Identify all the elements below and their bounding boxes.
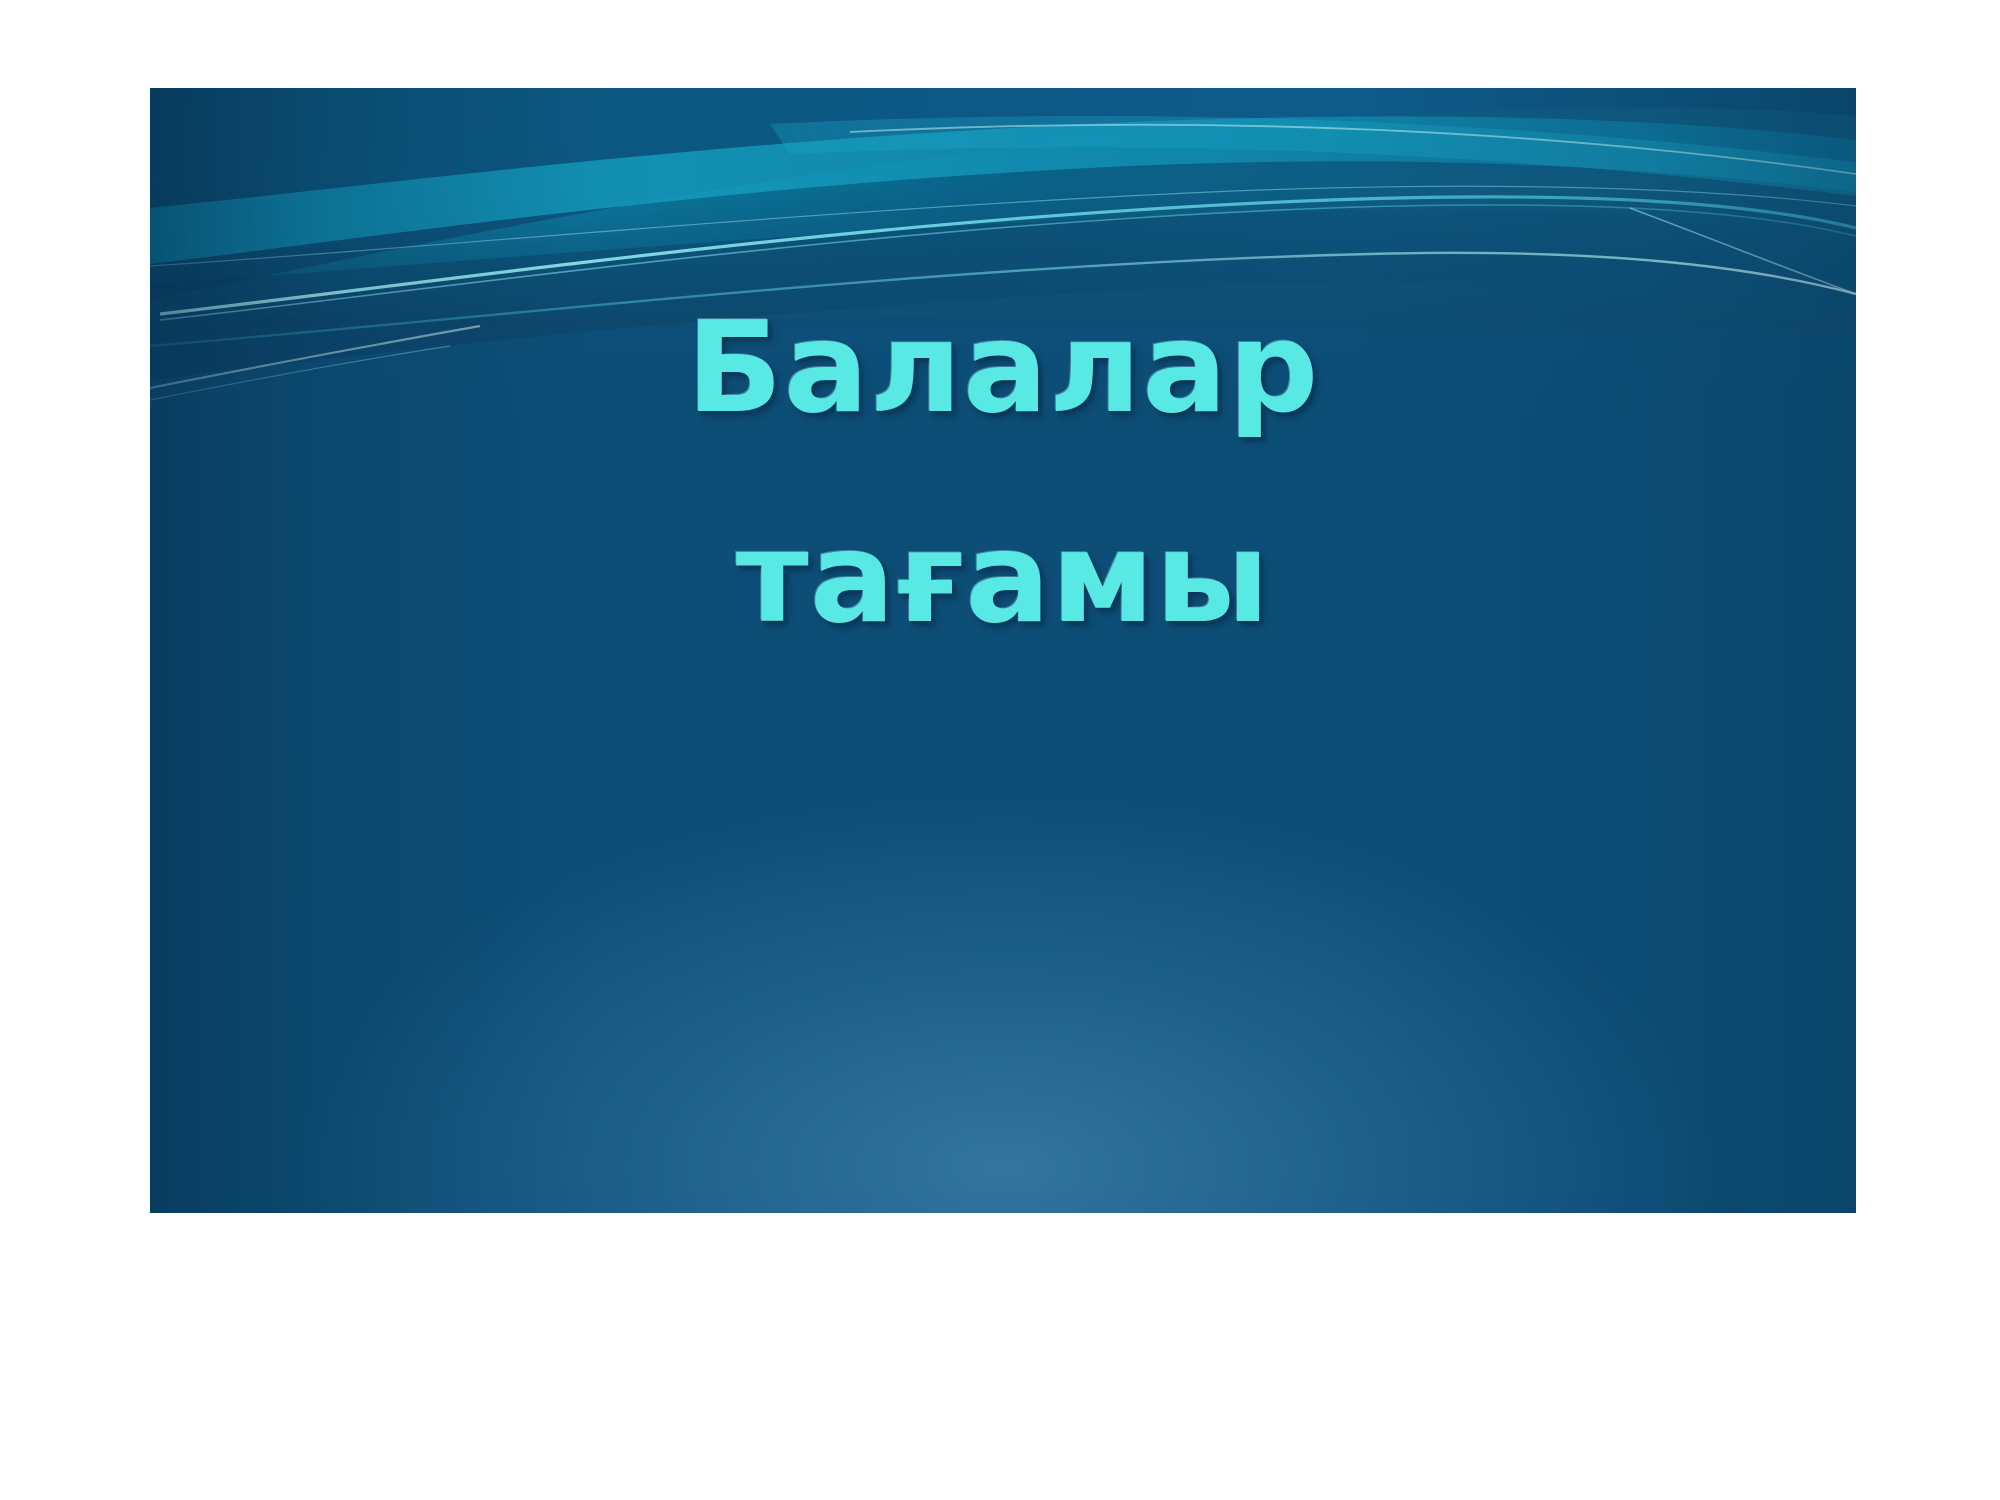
slide-title: Балалар тағамы	[150, 276, 1856, 670]
slide-title-line-1: Балалар	[150, 276, 1856, 460]
presentation-slide: Балалар тағамы	[150, 88, 1856, 1213]
slide-title-line-2: тағамы	[150, 486, 1856, 670]
page-canvas: Балалар тағамы	[0, 0, 2000, 1500]
